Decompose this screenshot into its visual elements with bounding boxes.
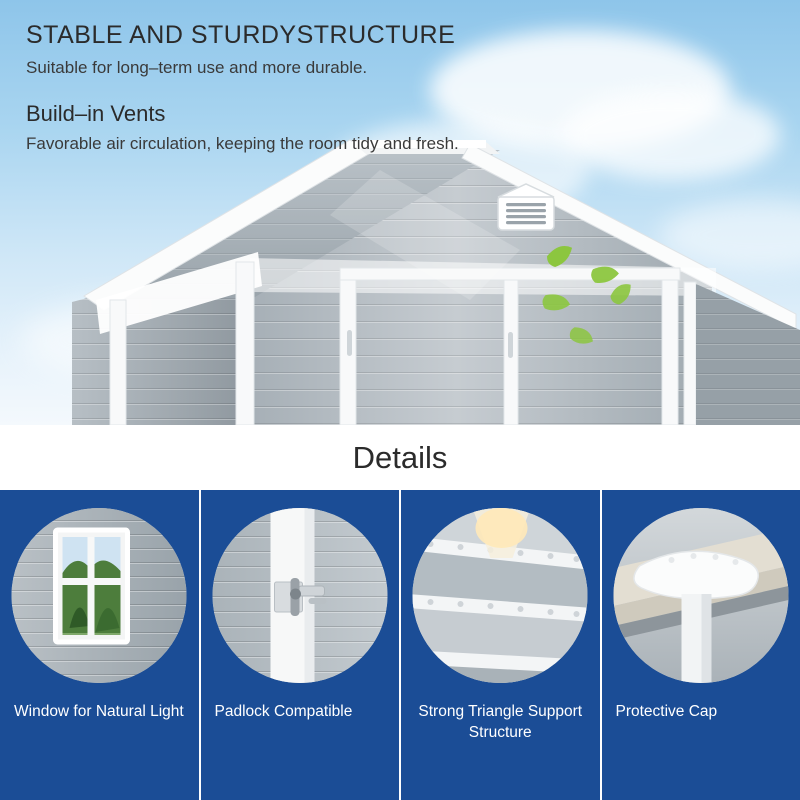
cap-photo <box>613 508 788 683</box>
hero-subtitle: Suitable for long–term use and more dura… <box>26 57 546 79</box>
detail-panel-truss[interactable]: Strong Triangle Support Structure <box>401 490 600 800</box>
door-top-rail <box>340 268 680 280</box>
detail-panel-window[interactable]: Window for Natural Light <box>0 490 199 800</box>
hero-subtitle-2: Favorable air circulation, keeping the r… <box>26 133 546 155</box>
detail-panel-padlock[interactable]: Padlock Compatible <box>201 490 400 800</box>
product-infographic-page: STABLE AND STURDYSTRUCTURE Suitable for … <box>0 0 800 800</box>
detail-panel-label: Protective Cap <box>610 702 793 723</box>
hero-title-2: Build–in Vents <box>26 101 546 127</box>
hero-title: STABLE AND STURDYSTRUCTURE <box>26 22 546 50</box>
detail-panel-label: Padlock Compatible <box>209 702 392 723</box>
truss-photo <box>413 508 588 683</box>
details-heading: Details <box>353 440 448 476</box>
padlock-photo <box>212 508 387 683</box>
hero-section: STABLE AND STURDYSTRUCTURE Suitable for … <box>0 0 800 425</box>
window-photo <box>12 508 187 683</box>
detail-panel-label: Strong Triangle Support Structure <box>409 702 592 744</box>
hero-text-block: STABLE AND STURDYSTRUCTURE Suitable for … <box>26 22 546 155</box>
detail-panel-cap[interactable]: Protective Cap <box>602 490 800 800</box>
detail-panel-label: Window for Natural Light <box>8 702 191 723</box>
details-panel-row: Window for Natural Light <box>0 490 800 800</box>
details-heading-band: Details <box>0 425 800 490</box>
